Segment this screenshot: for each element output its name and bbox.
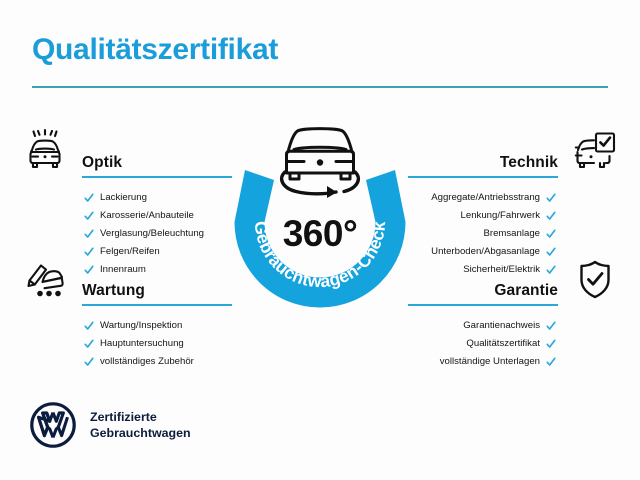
check-icon bbox=[84, 321, 94, 331]
list-item-label: Karosserie/Anbauteile bbox=[100, 211, 194, 221]
list-item-label: vollständiges Zubehör bbox=[100, 357, 194, 367]
list-item-label: Lenkung/Fahrwerk bbox=[461, 211, 540, 221]
section-garantie-header: Garantie bbox=[403, 256, 618, 302]
car-front-rotate-icon bbox=[282, 129, 359, 198]
check-icon bbox=[546, 229, 556, 239]
section-optik-title: Optik bbox=[68, 154, 237, 174]
check-icon bbox=[84, 193, 94, 203]
check-icon bbox=[546, 357, 556, 367]
section-garantie-divider bbox=[408, 304, 558, 306]
list-item-label: Hauptuntersuchung bbox=[100, 339, 184, 349]
list-item: Karosserie/Anbauteile bbox=[22, 208, 237, 224]
section-wartung-header: Wartung bbox=[22, 256, 237, 302]
section-optik-header: Optik bbox=[22, 128, 237, 174]
list-item: Lackierung bbox=[22, 190, 237, 206]
list-item: vollständiges Zubehör bbox=[22, 354, 237, 370]
check-icon bbox=[546, 193, 556, 203]
check-icon bbox=[546, 211, 556, 221]
list-item: vollständige Unterlagen bbox=[403, 354, 618, 370]
car-checkbox-icon bbox=[572, 128, 618, 174]
page-title: Qualitätszertifikat bbox=[32, 33, 278, 67]
list-item-label: Wartung/Inspektion bbox=[100, 321, 182, 331]
list-item: Qualitätszertifikat bbox=[403, 336, 618, 352]
vw-footer-text: Zertifizierte Gebrauchtwagen bbox=[90, 409, 191, 442]
vw-footer-line1: Zertifizierte bbox=[90, 410, 157, 424]
check-icon bbox=[84, 339, 94, 349]
list-item: Verglasung/Beleuchtung bbox=[22, 226, 237, 242]
section-technik-title: Technik bbox=[403, 154, 572, 174]
section-technik-divider bbox=[408, 176, 558, 178]
list-item-label: Aggregate/Antriebsstrang bbox=[431, 193, 540, 203]
badge-360-gebrauchtwagen-check: Gebrauchtwagen-Check 360° bbox=[228, 118, 412, 318]
list-item: Lenkung/Fahrwerk bbox=[403, 208, 618, 224]
list-item: Bremsanlage bbox=[403, 226, 618, 242]
section-wartung-title: Wartung bbox=[68, 282, 237, 302]
vw-footer: Zertifizierte Gebrauchtwagen bbox=[30, 402, 191, 448]
section-wartung: Wartung Wartung/Inspektion Hauptuntersuc… bbox=[22, 256, 237, 372]
list-item-label: Garantienachweis bbox=[463, 321, 540, 331]
check-icon bbox=[84, 229, 94, 239]
section-wartung-list: Wartung/Inspektion Hauptuntersuchung vol… bbox=[22, 306, 237, 370]
badge-center-label: 360° bbox=[283, 213, 358, 254]
list-item-label: vollständige Unterlagen bbox=[440, 357, 540, 367]
check-icon bbox=[84, 357, 94, 367]
check-icon bbox=[84, 211, 94, 221]
check-icon bbox=[546, 321, 556, 331]
list-item-label: Bremsanlage bbox=[483, 229, 540, 239]
section-garantie-title: Garantie bbox=[403, 282, 572, 302]
section-garantie-list: Garantienachweis Qualitätszertifikat vol… bbox=[403, 306, 618, 370]
section-technik-header: Technik bbox=[403, 128, 618, 174]
vw-logo bbox=[30, 402, 76, 448]
header-divider bbox=[32, 86, 608, 88]
list-item-label: Qualitätszertifikat bbox=[466, 339, 540, 349]
list-item: Wartung/Inspektion bbox=[22, 318, 237, 334]
vw-footer-line2: Gebrauchtwagen bbox=[90, 426, 191, 440]
pen-car-service-icon bbox=[22, 256, 68, 302]
certificate-page: Qualitätszertifikat Optik bbox=[0, 0, 640, 480]
list-item: Aggregate/Antriebsstrang bbox=[403, 190, 618, 206]
check-icon bbox=[546, 339, 556, 349]
list-item-label: Verglasung/Beleuchtung bbox=[100, 229, 204, 239]
list-item-label: Lackierung bbox=[100, 193, 147, 203]
car-inspection-light-icon bbox=[22, 128, 68, 174]
section-garantie: Garantie Garantienachweis Qualitätszerti… bbox=[403, 256, 618, 372]
shield-check-icon bbox=[572, 256, 618, 302]
list-item: Hauptuntersuchung bbox=[22, 336, 237, 352]
list-item: Garantienachweis bbox=[403, 318, 618, 334]
